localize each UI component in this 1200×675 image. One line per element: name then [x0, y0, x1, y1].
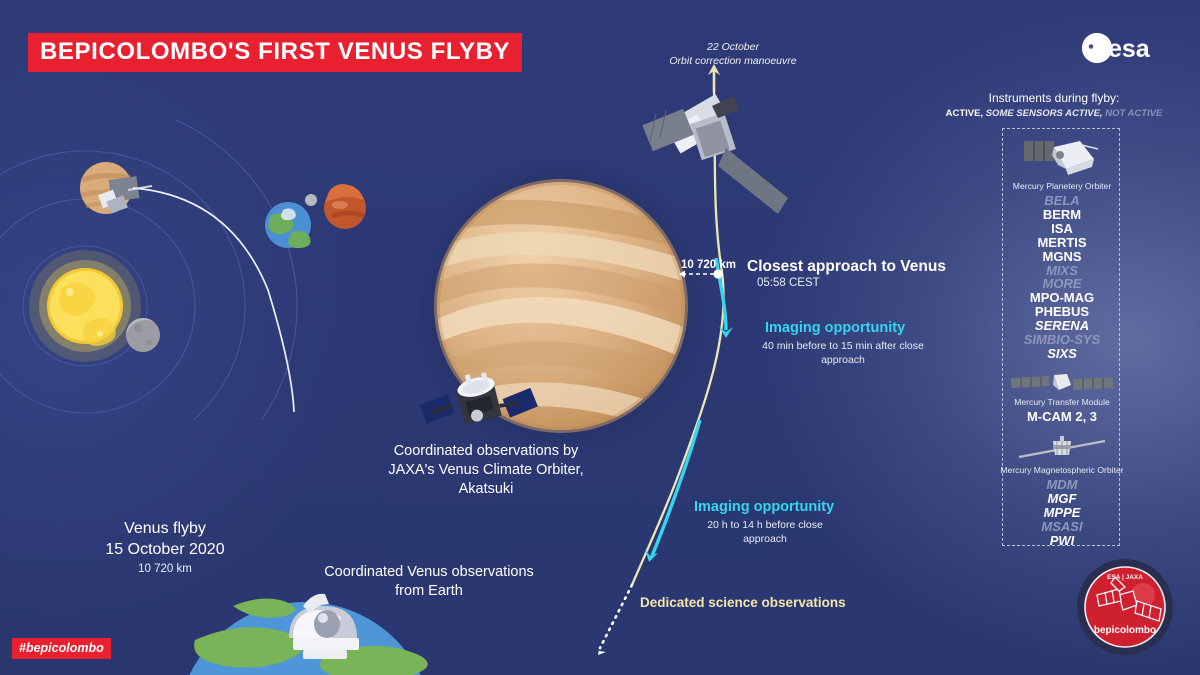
orbit-correction-text: Orbit correction manoeuvre [628, 54, 838, 68]
instrument-sixs: SIXS [973, 347, 1151, 361]
mpo-instrument-list: BELA BERM ISA MERTIS MGNS MIXS MORE MPO-… [973, 194, 1151, 361]
imaging-opportunity-2-detail: 20 h to 14 h before close approach [685, 518, 845, 546]
dedicated-science-label: Dedicated science observations [640, 595, 846, 610]
instruments-panel: Mercury Planetery Orbiter BELA BERM ISA … [1002, 128, 1120, 546]
instrument-mgf: MGF [973, 492, 1151, 506]
instrument-mppe: MPPE [973, 506, 1151, 520]
instruments-heading: Instruments during flyby: [955, 91, 1153, 105]
instrument-mgns: MGNS [973, 250, 1151, 264]
instrument-pwi: PWI [973, 534, 1151, 548]
instrument-berm: BERM [973, 208, 1151, 222]
instrument-m-cam: M-CAM 2, 3 [973, 410, 1151, 424]
mpo-icon [1022, 135, 1102, 179]
instrument-isa: ISA [973, 222, 1151, 236]
mtm-caption: Mercury Transfer Module [973, 397, 1151, 407]
mmo-caption: Mercury Magnetospheric Orbiter [973, 465, 1151, 475]
imaging-opportunity-1-title: Imaging opportunity [765, 320, 905, 336]
esa-wordmark: esa [1108, 35, 1151, 63]
mtm-instrument-list: M-CAM 2, 3 [973, 410, 1151, 424]
infographic-canvas: 22 October Orbit correction manoeuvre 10… [0, 0, 1200, 675]
closest-approach-title: Closest approach to Venus [747, 258, 946, 276]
imaging-opportunity-2-title: Imaging opportunity [694, 499, 834, 515]
flyby-summary-line3: 10 720 km [70, 563, 260, 575]
badge-partners: ESA | JAXA [1107, 574, 1143, 581]
flyby-summary: Venus flyby 15 October 2020 10 720 km [70, 518, 260, 575]
legend-not: NOT ACTIVE [1105, 108, 1162, 119]
mtm-icon [1007, 369, 1117, 395]
badge-wordmark: bepicolombo [1094, 625, 1156, 636]
earth-observations-caption: Coordinated Venus observations from Eart… [318, 563, 540, 601]
instrument-serena: SERENA [973, 319, 1151, 333]
imaging-opportunity-1-detail: 40 min before to 15 min after close appr… [748, 339, 938, 367]
page-title: BEPICOLOMBO'S FIRST VENUS FLYBY [28, 33, 522, 72]
arrow-trajectory-end [598, 644, 606, 655]
akatsuki-caption: Coordinated observations by JAXA's Venus… [370, 442, 602, 499]
akatsuki-spacecraft [415, 360, 539, 438]
instruments-legend: ACTIVE, SOME SENSORS ACTIVE, NOT ACTIVE [941, 108, 1167, 119]
instrument-phebus: PHEBUS [973, 305, 1151, 319]
mpo-caption: Mercury Planetery Orbiter [973, 181, 1151, 191]
instrument-bela: BELA [973, 194, 1151, 208]
bepicolombo-mission-badge: ESA | JAXA bepicolombo [1075, 557, 1175, 657]
orbit-correction-date: 22 October [628, 40, 838, 54]
flyby-summary-line2: 15 October 2020 [70, 539, 260, 560]
legend-some: SOME SENSORS ACTIVE, [986, 108, 1103, 119]
instrument-mixs: MIXS [973, 264, 1151, 278]
instrument-mpo-mag: MPO-MAG [973, 291, 1151, 305]
instrument-mertis: MERTIS [973, 236, 1151, 250]
mmo-instrument-list: MDM MGF MPPE MSASI PWI [973, 478, 1151, 548]
orbit-correction-label: 22 October Orbit correction manoeuvre [628, 40, 838, 68]
esa-logo: esa [1078, 28, 1174, 68]
instrument-group-mpo: Mercury Planetery Orbiter BELA BERM ISA … [973, 135, 1151, 361]
instrument-msasi: MSASI [973, 520, 1151, 534]
distance-arrow-left [679, 271, 685, 278]
hashtag-badge: #bepicolombo [12, 638, 111, 659]
closest-approach-distance: 10 720 km [681, 259, 736, 271]
instrument-more: MORE [973, 277, 1151, 291]
flyby-summary-line1: Venus flyby [70, 518, 260, 539]
trajectory-dotted-tail [600, 585, 632, 648]
mmo-icon [1007, 435, 1117, 463]
closest-approach-time: 05:58 CEST [757, 277, 820, 289]
instrument-group-mmo: Mercury Magnetospheric Orbiter MDM MGF M… [973, 435, 1151, 548]
instrument-mdm: MDM [973, 478, 1151, 492]
instrument-group-mtm: Mercury Transfer Module M-CAM 2, 3 [973, 369, 1151, 424]
legend-active: ACTIVE, [946, 108, 983, 119]
instrument-simbio-sys: SIMBIO-SYS [973, 333, 1151, 347]
